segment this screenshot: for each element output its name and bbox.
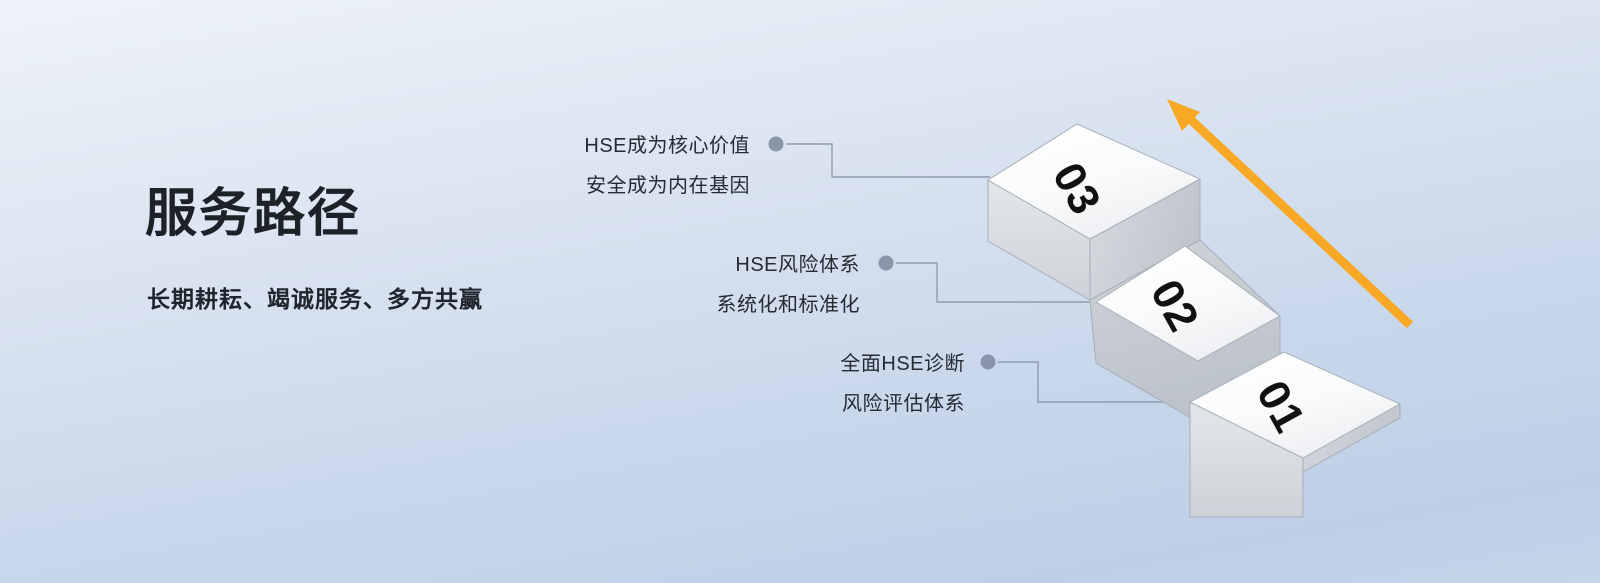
callout-01-line-1: 全面HSE诊断 (590, 344, 965, 384)
callout-step-02: HSE风险体系 系统化和标准化 (490, 245, 860, 325)
connector-dot-03 (769, 137, 784, 152)
callout-03-line-1: HSE成为核心价值 (360, 126, 750, 166)
connector-line-03 (786, 144, 990, 177)
callout-02-line-2: 系统化和标准化 (490, 285, 860, 325)
connector-dot-01 (981, 355, 996, 370)
callout-03-line-2: 安全成为内在基因 (360, 166, 750, 206)
connector-step-03 (769, 137, 991, 178)
callout-step-01: 全面HSE诊断 风险评估体系 (590, 344, 965, 424)
callout-02-line-1: HSE风险体系 (490, 245, 860, 285)
callout-01-line-2: 风险评估体系 (590, 384, 965, 424)
callout-step-03: HSE成为核心价值 安全成为内在基因 (360, 126, 750, 206)
service-path-slide: 服务路径 长期耕耘、竭诚服务、多方共赢 (0, 0, 1600, 583)
connector-dot-02 (879, 256, 894, 271)
